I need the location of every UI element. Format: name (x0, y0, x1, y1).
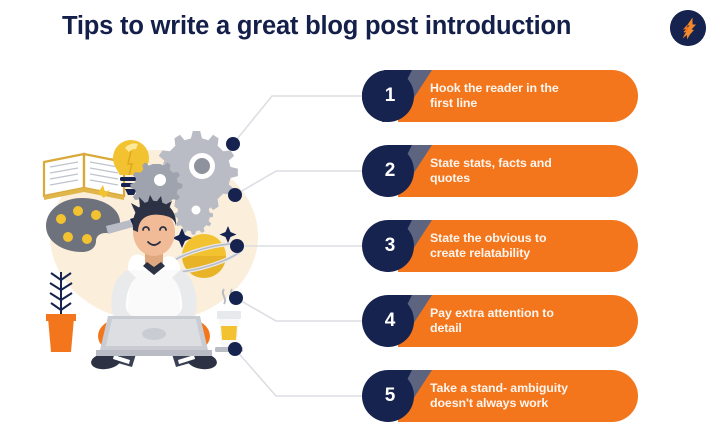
step-number: 2 (370, 145, 410, 197)
step-text-line2: create relatability (430, 246, 620, 262)
step-text: State the obvious to create relatability (430, 220, 620, 272)
step-text-line1: Hook the reader in the (430, 81, 620, 97)
step-number: 1 (370, 70, 410, 122)
step-text: Hook the reader in the first line (430, 70, 620, 122)
step-item-3[interactable]: 3 State the obvious to create relatabili… (362, 220, 638, 272)
header: Tips to write a great blog post introduc… (0, 0, 720, 58)
step-text: Pay extra attention to detail (430, 295, 620, 347)
step-text: Take a stand- ambiguity doesn't always w… (430, 370, 620, 422)
step-item-2[interactable]: 2 State stats, facts and quotes (362, 145, 638, 197)
step-text-line2: doesn't always work (430, 396, 620, 412)
infographic-root: Tips to write a great blog post introduc… (0, 0, 720, 432)
step-item-4[interactable]: 4 Pay extra attention to detail (362, 295, 638, 347)
step-text-line1: Take a stand- ambiguity (430, 381, 620, 397)
step-text-line1: State stats, facts and (430, 156, 620, 172)
step-text-line2: quotes (430, 171, 620, 187)
step-text-line1: Pay extra attention to (430, 306, 620, 322)
step-text-line2: first line (430, 96, 620, 112)
step-number: 4 (370, 295, 410, 347)
step-text-line2: detail (430, 321, 620, 337)
step-item-5[interactable]: 5 Take a stand- ambiguity doesn't always… (362, 370, 638, 422)
bird-logo-icon (670, 10, 706, 46)
step-item-1[interactable]: 1 Hook the reader in the first line (362, 70, 638, 122)
step-number: 3 (370, 220, 410, 272)
person-with-laptop-illustration (30, 118, 280, 383)
step-number: 5 (370, 370, 410, 422)
page-title: Tips to write a great blog post introduc… (62, 12, 652, 41)
step-text-line1: State the obvious to (430, 231, 620, 247)
potted-plant-icon (46, 272, 76, 352)
step-text: State stats, facts and quotes (430, 145, 620, 197)
